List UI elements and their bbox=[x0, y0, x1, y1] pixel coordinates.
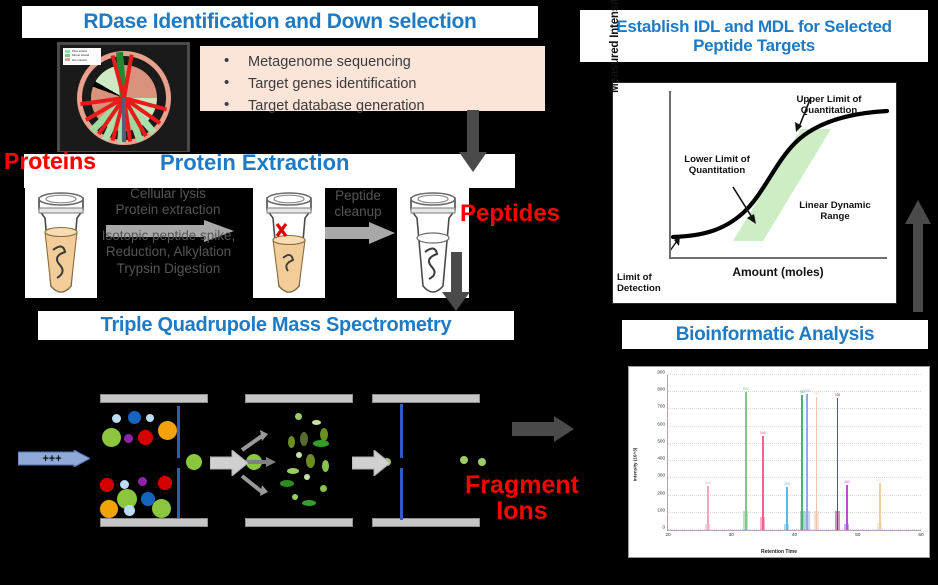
list-item: Target genes identification bbox=[214, 73, 537, 95]
genome-legend: Plus strand Minus strand GC content bbox=[63, 48, 101, 65]
chromatogram-peak-label: 548 bbox=[760, 431, 766, 435]
bioinformatic-panel-title: Bioinformatic Analysis bbox=[620, 318, 930, 351]
fragment-ion bbox=[287, 468, 299, 474]
precursor-ion bbox=[100, 478, 114, 492]
rdase-bullet-list: Metagenome sequencing Target genes ident… bbox=[200, 46, 545, 111]
chromatogram-gridline bbox=[668, 374, 921, 375]
chromatogram-y-tick-label: 0 bbox=[662, 525, 665, 530]
precursor-ion bbox=[124, 505, 135, 516]
chromatogram-gridline bbox=[668, 426, 921, 427]
chromatogram-y-axis-label: Intensity (10^3) bbox=[633, 425, 638, 505]
chromatogram-peak-tail bbox=[835, 511, 840, 530]
annotation-lower-limit-quantitation: Lower Limit of Quantitation bbox=[671, 155, 763, 177]
genome-legend-item: GC content bbox=[72, 58, 87, 62]
linear-dynamic-range-band bbox=[733, 129, 831, 241]
fragment-ion bbox=[280, 480, 294, 487]
chromatogram-peak: 262 bbox=[844, 485, 850, 530]
fragment-ion bbox=[322, 460, 329, 472]
arrow-cleanup-step bbox=[325, 222, 395, 244]
step-text-lysis: Cellular lysis Protein extraction bbox=[92, 186, 244, 219]
fragment-ion bbox=[313, 440, 329, 447]
label-fragment-ions: Fragment Ions bbox=[452, 472, 592, 525]
fragmentation-arrows bbox=[240, 420, 310, 510]
precursor-ion bbox=[124, 434, 133, 443]
chromatogram-y-tick-label: 800 bbox=[657, 387, 665, 392]
step-text-digestion: Isotopic peptide spike, Reduction, Alkyl… bbox=[86, 228, 251, 277]
chromatogram-peak: 272 bbox=[877, 483, 883, 530]
chromatogram-peak-label: 768 bbox=[835, 393, 841, 397]
selected-fragment-ion bbox=[478, 458, 486, 466]
chromatogram-peak-label: 272 bbox=[877, 478, 883, 482]
chromatogram-y-tick-label: 500 bbox=[657, 438, 665, 443]
arrow-q1-to-q2 bbox=[210, 450, 248, 476]
inlet-charge-label: +++ bbox=[42, 453, 61, 465]
arrow-ms-to-detector bbox=[512, 416, 574, 442]
chromatogram-gridline bbox=[668, 408, 921, 409]
chromatogram-peak-tail bbox=[784, 524, 789, 530]
list-item: Metagenome sequencing bbox=[214, 51, 537, 73]
fragment-ion bbox=[300, 432, 308, 446]
chromatogram-peak-tail bbox=[814, 511, 819, 530]
quad1-plate-bottom bbox=[100, 518, 208, 527]
step-text-digestion-line: Isotopic peptide spike, Reduction, Alkyl… bbox=[102, 228, 236, 276]
chromatogram-peak-label: 258 bbox=[705, 481, 711, 485]
fragment-ion bbox=[312, 420, 321, 425]
chromatogram-peak: 790 bbox=[804, 394, 810, 530]
fragment-ion bbox=[295, 413, 302, 420]
arrow-rdase-to-extraction bbox=[456, 110, 492, 176]
quad1-exit-bar bbox=[177, 406, 180, 458]
precursor-ion bbox=[158, 476, 172, 490]
quad3-entrance-bar bbox=[400, 468, 403, 520]
chromatogram-x-tick-label: 30 bbox=[729, 533, 734, 538]
chromatogram-peak-tail bbox=[844, 524, 849, 530]
step-text-cleanup: Peptide cleanup bbox=[318, 188, 398, 221]
mrm-chromatogram-chart: Intensity (10^3) 01002003004005006007008… bbox=[628, 366, 930, 558]
chromatogram-peak-tail bbox=[743, 511, 748, 530]
protein-extraction-title: Protein Extraction bbox=[160, 150, 349, 176]
chromatogram-peak-tail bbox=[877, 523, 882, 530]
quad2-plate-bottom bbox=[245, 518, 353, 527]
chromatogram-y-tick-label: 600 bbox=[657, 421, 665, 426]
chromatogram-peak: 800 bbox=[743, 392, 749, 530]
chromatogram-peak-tail bbox=[805, 511, 810, 530]
chromatogram-peak: 258 bbox=[705, 486, 711, 530]
chromatogram-y-tick-label: 300 bbox=[657, 473, 665, 478]
chromatogram-y-tick-label: 100 bbox=[657, 507, 665, 512]
chromatogram-peak-label: 800 bbox=[743, 387, 749, 391]
label-proteins: Proteins bbox=[4, 148, 96, 175]
arrow-q2-to-q3 bbox=[352, 450, 390, 476]
chromatogram-peak-label: 250 bbox=[784, 482, 790, 486]
precursor-ion bbox=[138, 430, 153, 445]
chromatogram-peak-label: 770 bbox=[814, 392, 820, 396]
fragment-ion bbox=[320, 485, 327, 492]
ion-inlet-arrow: +++ bbox=[18, 450, 90, 467]
chromatogram-gridline bbox=[668, 477, 921, 478]
precursor-ion bbox=[100, 500, 118, 518]
chromatogram-peak: 250 bbox=[784, 487, 790, 530]
idl-mdl-panel-title: Establish IDL and MDL for Selected Pepti… bbox=[578, 8, 930, 64]
selected-fragment-ion bbox=[460, 456, 468, 464]
chromatogram-y-tick-label: 700 bbox=[657, 404, 665, 409]
step-text-lysis-line: Cellular lysis Protein extraction bbox=[115, 186, 220, 217]
chromatogram-gridline bbox=[668, 391, 921, 392]
precursor-ion bbox=[112, 414, 121, 423]
fragment-ion bbox=[292, 494, 298, 500]
chromatogram-peak-label: 790 bbox=[804, 389, 810, 393]
rdase-panel-title: RDase Identification and Down selection bbox=[20, 4, 540, 40]
calibration-curve-chart: Measured Intensity (area) Upper Limit of… bbox=[612, 82, 897, 304]
quad3-entrance-bar bbox=[400, 404, 403, 458]
circular-metagenome-plot: Plus strand Minus strand GC content bbox=[57, 42, 190, 154]
chromatogram-x-tick-label: 60 bbox=[918, 533, 923, 538]
quad1-exit-bar bbox=[177, 468, 180, 518]
fragment-ion bbox=[304, 474, 310, 480]
lod-leader-line bbox=[671, 241, 677, 259]
precursor-ion bbox=[152, 499, 171, 518]
chromatogram-y-tick-label: 200 bbox=[657, 490, 665, 495]
chromatogram-x-tick-label: 20 bbox=[665, 533, 670, 538]
chromatogram-peak: 770 bbox=[814, 397, 820, 530]
chromatogram-y-tick-label: 400 bbox=[657, 456, 665, 461]
step-text-cleanup-line: Peptide cleanup bbox=[334, 188, 381, 219]
chromatogram-x-tick-label: 50 bbox=[855, 533, 860, 538]
precursor-ion bbox=[128, 411, 141, 424]
chromatogram-peak-label: 262 bbox=[844, 480, 850, 484]
genome-spoke bbox=[122, 98, 126, 142]
quad3-plate-top bbox=[372, 394, 480, 403]
chromatogram-peak-tail bbox=[760, 517, 765, 530]
arrow-bioinformatics-to-idl bbox=[903, 200, 933, 312]
tube-digested-peptides bbox=[253, 188, 325, 298]
fragment-ion bbox=[288, 436, 295, 448]
idl-x-axis-label: Amount (moles) bbox=[673, 265, 883, 279]
fragment-ion bbox=[296, 452, 302, 458]
chromatogram-peak: 548 bbox=[760, 436, 766, 530]
chromatogram-peak-stem bbox=[816, 397, 818, 530]
chromatogram-peak-stem bbox=[801, 395, 803, 530]
precursor-ion bbox=[120, 480, 129, 489]
chromatogram-peak-tail bbox=[705, 524, 710, 530]
label-peptides: Peptides bbox=[460, 200, 560, 228]
precursor-ion bbox=[158, 421, 177, 440]
chromatogram-peak-stem bbox=[806, 394, 808, 530]
chromatogram-gridline bbox=[668, 460, 921, 461]
precursor-ion bbox=[102, 428, 121, 447]
chromatogram-peak-stem bbox=[745, 392, 747, 530]
annotation-upper-limit-quantitation: Upper Limit of Quantitation bbox=[781, 95, 877, 117]
selected-precursor-ion bbox=[186, 454, 202, 470]
fragment-ion bbox=[302, 500, 316, 506]
chromatogram-x-tick-label: 40 bbox=[792, 533, 797, 538]
arrow-peptides-to-ms bbox=[440, 252, 474, 314]
quad1-plate-top bbox=[100, 394, 208, 403]
chromatogram-plot-area: 0100200300400500600700800900 2030405060 … bbox=[667, 375, 921, 531]
precursor-ion bbox=[138, 477, 147, 486]
idl-y-axis-label: Measured Intensity (area) bbox=[609, 0, 621, 101]
chromatogram-peak-stem bbox=[837, 398, 839, 530]
chromatogram-y-tick-label: 900 bbox=[657, 370, 665, 375]
quad2-plate-top bbox=[245, 394, 353, 403]
chromatogram-gridline bbox=[668, 443, 921, 444]
chromatogram-peak: 768 bbox=[835, 398, 841, 530]
chromatogram-x-axis-label: Retention Time bbox=[629, 549, 929, 555]
fragment-ion bbox=[306, 454, 315, 468]
annotation-linear-dynamic-range: Linear Dynamic Range bbox=[791, 201, 879, 223]
precursor-ion bbox=[146, 414, 154, 422]
